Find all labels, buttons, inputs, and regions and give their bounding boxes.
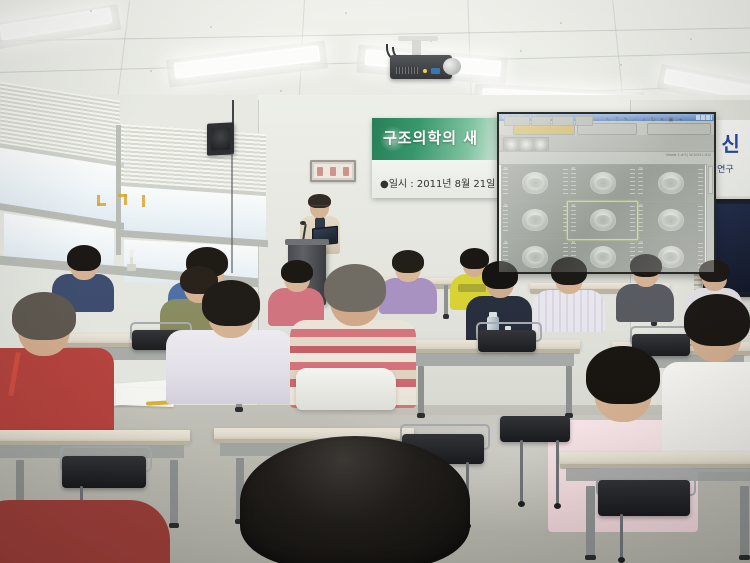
chair-back: [478, 330, 536, 352]
scrollbar-thumb[interactable]: [708, 166, 713, 194]
address-bar[interactable]: [647, 123, 711, 135]
table-leg: [586, 486, 595, 556]
pointer-icon[interactable]: ↖: [605, 117, 611, 123]
attendee-white-check: [533, 262, 605, 332]
chair-back: [598, 480, 690, 516]
mri-slice-selected[interactable]: IM: [570, 202, 637, 238]
ruler-icon[interactable]: ／: [632, 117, 638, 123]
chair-back: [500, 416, 570, 442]
attendee-foreground-head: [240, 436, 470, 563]
projector-led-icon: [423, 69, 427, 73]
attendee-foreground-shoulder: [0, 500, 170, 563]
toolbar-button[interactable]: [531, 116, 551, 126]
window-controls-icon[interactable]: [696, 115, 712, 120]
text-icon[interactable]: T: [614, 117, 620, 123]
table: [0, 430, 190, 442]
chair-leg: [620, 514, 623, 558]
mri-slice[interactable]: IM: [502, 165, 569, 201]
projector-vent: [396, 67, 418, 74]
table-leg: [170, 460, 178, 524]
lecture-hall-photo: 구조의학의 새 ●일시 : 2011년 8월 21일 전 신 학회 · 연구 의…: [0, 0, 750, 563]
banner-title: 구조의학의 새: [383, 127, 503, 148]
glasses-icon: [311, 205, 328, 210]
attendee-white-polo-right: [662, 300, 750, 472]
attendee-red-polo: [0, 296, 114, 436]
attendee-white-shirt: [166, 286, 292, 404]
toolbar-button[interactable]: [552, 116, 574, 126]
mri-slice[interactable]: IM: [637, 165, 704, 201]
toolbar-button[interactable]: [575, 116, 593, 126]
arrow-icon[interactable]: ←: [595, 117, 601, 123]
microphone-icon: [300, 221, 306, 225]
chair-back: [62, 456, 146, 488]
close-icon[interactable]: ✕: [659, 117, 665, 123]
rotate-icon[interactable]: ↻: [650, 117, 656, 123]
projection-screen: 의학영상 진단시스템 - Windows Internet Explorer ←…: [497, 112, 716, 274]
viewer-scrollbar[interactable]: [706, 164, 714, 272]
jacket-on-chair: [296, 368, 396, 410]
wall-speaker: [207, 122, 234, 155]
wall-sign: [310, 160, 356, 182]
chair-leg: [520, 440, 523, 502]
mri-slice[interactable]: IM: [502, 202, 569, 238]
export-icon[interactable]: ⇥: [677, 117, 683, 123]
mri-slice[interactable]: IM: [637, 202, 704, 238]
table-leg: [444, 285, 448, 315]
banner-date-line: ●일시 : 2011년 8월 21일: [380, 175, 510, 190]
projector-port: [431, 68, 440, 74]
event-banner-left: 구조의학의 새 ●일시 : 2011년 8월 21일: [372, 118, 500, 198]
window-gold-text: [97, 203, 106, 206]
zoom-icon[interactable]: ⌕: [641, 117, 647, 123]
projector-lens-icon: [443, 58, 461, 75]
table-leg: [418, 366, 424, 414]
windowsill-ornament: [127, 249, 136, 271]
window-gold-text: [124, 194, 127, 205]
viewer-status-text: Viewer 1 of 3 | W:1024 L:512: [666, 153, 711, 157]
ceiling-projector: [390, 55, 452, 79]
mri-thumbnail-grid[interactable]: IM IM IM IM IM IM IM IM IM: [501, 164, 705, 272]
mri-slice[interactable]: IM: [570, 165, 637, 201]
table-leg: [740, 486, 749, 556]
window-gold-text: [142, 195, 145, 207]
window-level-icon[interactable]: ▣: [668, 117, 674, 123]
table: [560, 452, 750, 465]
pencil-icon[interactable]: ✎: [623, 117, 629, 123]
toolbar-button[interactable]: [504, 116, 530, 126]
chair-leg: [556, 440, 559, 504]
